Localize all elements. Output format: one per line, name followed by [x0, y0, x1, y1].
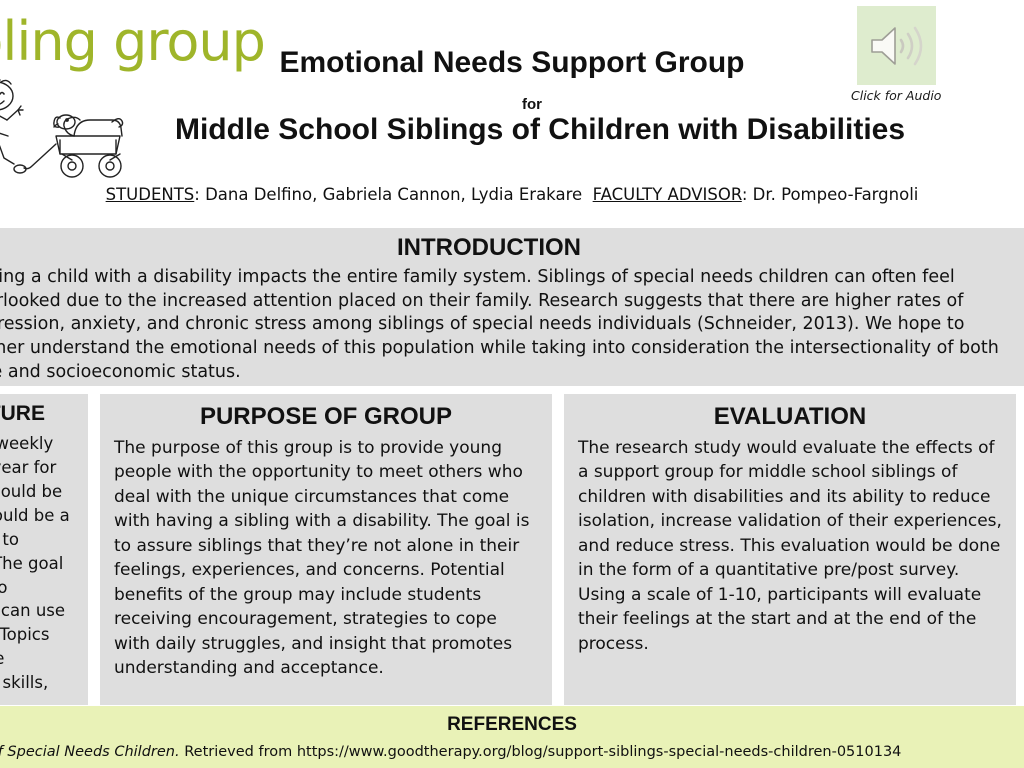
speaker-sound-icon	[868, 22, 924, 70]
references-heading: REFERENCES	[0, 714, 1024, 736]
reference-citation-url: Retrieved from https://www.goodtherapy.o…	[180, 744, 902, 760]
section-references: REFERENCES Schneider, A. (2013). Support…	[0, 706, 1024, 768]
poster-subtitle: Middle School Siblings of Children with …	[10, 113, 1024, 147]
audio-caption: Click for Audio	[851, 88, 941, 103]
section-evaluation: EVALUATION The research study would eval…	[564, 394, 1016, 705]
conference-poster: sibling group	[0, 0, 1024, 768]
evaluation-body: The research study would evaluate the ef…	[564, 436, 1016, 656]
group-structure-heading: GROUP STRUCTURE	[0, 402, 88, 426]
students-value: : Dana Delfino, Gabriela Cannon, Lydia E…	[194, 185, 582, 204]
introduction-heading: INTRODUCTION	[0, 234, 1024, 262]
purpose-heading: PURPOSE OF GROUP	[100, 403, 552, 431]
introduction-body: Having a child with a disability impacts…	[0, 266, 1024, 384]
audio-control[interactable]: Click for Audio	[851, 6, 941, 103]
audio-play-button[interactable]	[857, 6, 936, 85]
references-entry: Schneider, A. (2013). Support for Siblin…	[0, 744, 1024, 760]
poster-header: sibling group	[0, 0, 1024, 228]
byline: STUDENTS: Dana Delfino, Gabriela Cannon,…	[0, 185, 1024, 204]
section-group-structure: GROUP STRUCTURE The group would meet wee…	[0, 394, 88, 705]
organization-logo: sibling group	[0, 2, 168, 182]
section-purpose-of-group: PURPOSE OF GROUP The purpose of this gro…	[100, 394, 552, 705]
evaluation-heading: EVALUATION	[564, 403, 1016, 431]
purpose-body: The purpose of this group is to provide …	[100, 436, 552, 681]
reference-citation-title: Schneider, A. (2013). Support for Siblin…	[0, 744, 180, 760]
group-structure-body: The group would meet weekly throughout t…	[0, 432, 88, 719]
section-introduction: INTRODUCTION Having a child with a disab…	[0, 228, 1024, 386]
advisor-value: : Dr. Pompeo-Fargnoli	[742, 185, 919, 204]
students-label: STUDENTS	[106, 185, 195, 204]
advisor-label: FACULTY ADVISOR	[593, 185, 742, 204]
